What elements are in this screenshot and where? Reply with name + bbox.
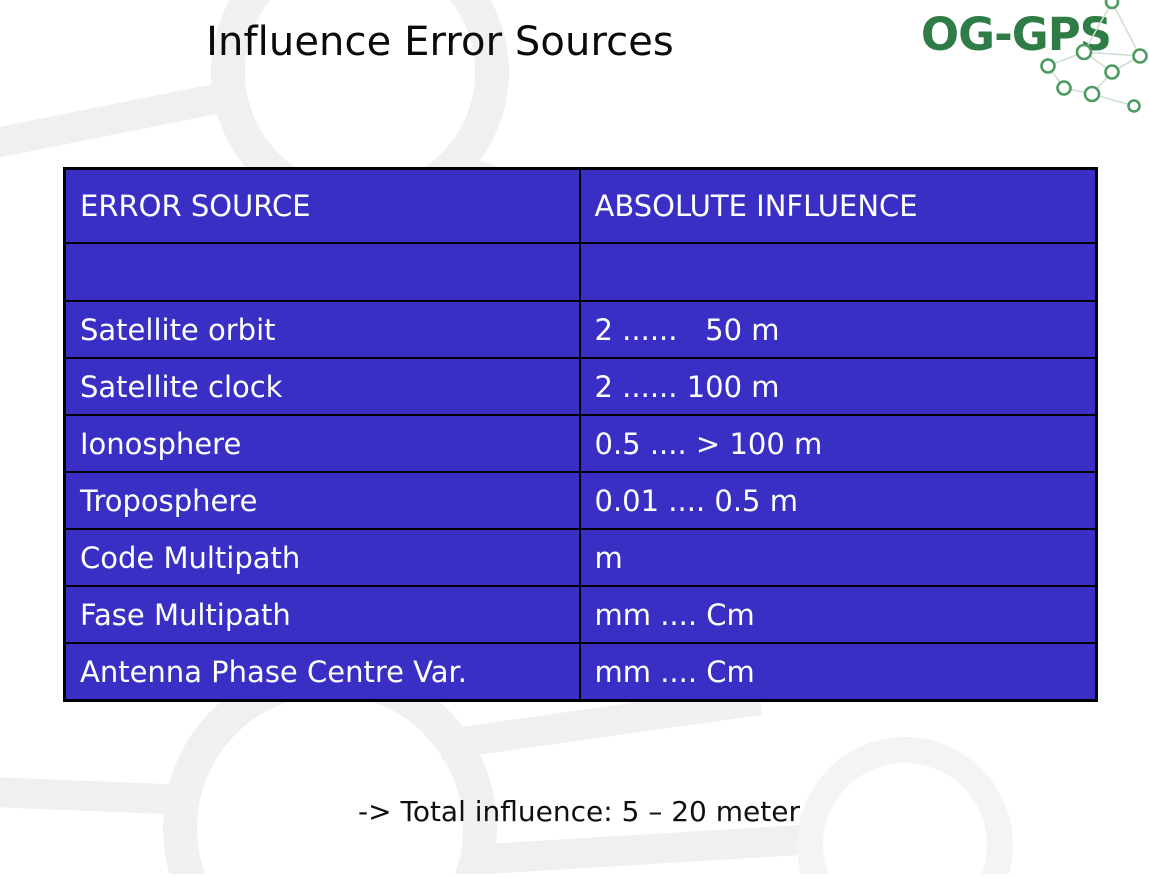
cell-absolute-influence: 0.01 .... 0.5 m: [580, 472, 1097, 529]
header-absolute-influence: ABSOLUTE INFLUENCE: [580, 169, 1097, 244]
cell-absolute-influence: 2 ...... 100 m: [580, 358, 1097, 415]
table-row: Troposphere 0.01 .... 0.5 m: [65, 472, 1097, 529]
og-gps-logo: HET MEEST VEELBELOVENDE NETWERK OG-GPS: [898, 0, 1148, 114]
table-row: Fase Multipath mm .... Cm: [65, 586, 1097, 643]
page-title: Influence Error Sources: [0, 18, 880, 66]
slide-canvas: HET MEEST VEELBELOVENDE NETWERK OG-GPS: [0, 0, 1150, 874]
table-header-row: ERROR SOURCE ABSOLUTE INFLUENCE: [65, 169, 1097, 244]
table-spacer-row: [65, 243, 1097, 301]
cell-error-source: Ionosphere: [65, 415, 580, 472]
network-nodes-icon: [988, 0, 1148, 114]
table-row: Satellite clock 2 ...... 100 m: [65, 358, 1097, 415]
table-row: Satellite orbit 2 ...... 50 m: [65, 301, 1097, 358]
cell-error-source: Fase Multipath: [65, 586, 580, 643]
cell-absolute-influence: m: [580, 529, 1097, 586]
cell-absolute-influence: mm .... Cm: [580, 643, 1097, 701]
error-sources-table: ERROR SOURCE ABSOLUTE INFLUENCE Satellit…: [63, 167, 1098, 702]
cell-error-source: Satellite orbit: [65, 301, 580, 358]
total-influence-note: -> Total influence: 5 – 20 meter: [0, 795, 1095, 828]
spacer-cell-source: [65, 243, 580, 301]
cell-absolute-influence: 0.5 .... > 100 m: [580, 415, 1097, 472]
header-error-source: ERROR SOURCE: [65, 169, 580, 244]
cell-absolute-influence: mm .... Cm: [580, 586, 1097, 643]
table-row: Antenna Phase Centre Var. mm .... Cm: [65, 643, 1097, 701]
table-row: Code Multipath m: [65, 529, 1097, 586]
cell-absolute-influence: 2 ...... 50 m: [580, 301, 1097, 358]
cell-error-source: Code Multipath: [65, 529, 580, 586]
cell-error-source: Troposphere: [65, 472, 580, 529]
cell-error-source: Satellite clock: [65, 358, 580, 415]
table-row: Ionosphere 0.5 .... > 100 m: [65, 415, 1097, 472]
cell-error-source: Antenna Phase Centre Var.: [65, 643, 580, 701]
spacer-cell-influence: [580, 243, 1097, 301]
